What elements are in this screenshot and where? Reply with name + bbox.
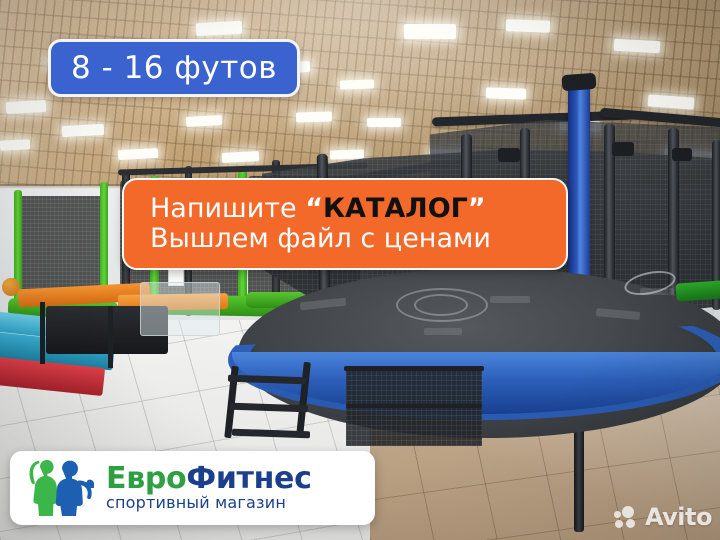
brand-name: ЕвроФитнес — [106, 464, 312, 495]
listing-image: 8 - 16 футов Напишите “КАТАЛОГ” Вышлем ф… — [0, 0, 720, 540]
cta-line-2: Вышлем файл с ценами — [150, 224, 566, 254]
cta-banner: Напишите “КАТАЛОГ” Вышлем файл с ценами — [122, 178, 568, 270]
brand-name-part2: Фитнес — [186, 461, 311, 496]
brand-tagline: спортивный магазин — [106, 495, 312, 512]
male-figure-flexing-icon — [56, 461, 94, 516]
cta-keyword: КАТАЛОГ — [323, 193, 468, 224]
cta-prefix: Напишите — [150, 193, 305, 224]
brand-logo-text: ЕвроФитнес спортивный магазин — [106, 464, 312, 512]
cta-line-1: Напишите “КАТАЛОГ” — [150, 194, 566, 224]
brand-logo-card: ЕвроФитнес спортивный магазин — [10, 451, 375, 525]
size-range-badge: 8 - 16 футов — [48, 39, 300, 97]
size-range-label: 8 - 16 футов — [71, 50, 277, 86]
cta-quote-open: “ — [305, 193, 323, 224]
brand-name-part1: Евро — [106, 461, 186, 496]
avito-wordmark: Avito — [645, 503, 712, 531]
avito-watermark: Avito — [614, 503, 712, 531]
female-figure-icon — [30, 460, 59, 516]
cta-quote-close: ” — [468, 193, 486, 224]
avito-dots-icon — [614, 506, 640, 528]
fitness-figures-icon — [26, 460, 94, 516]
